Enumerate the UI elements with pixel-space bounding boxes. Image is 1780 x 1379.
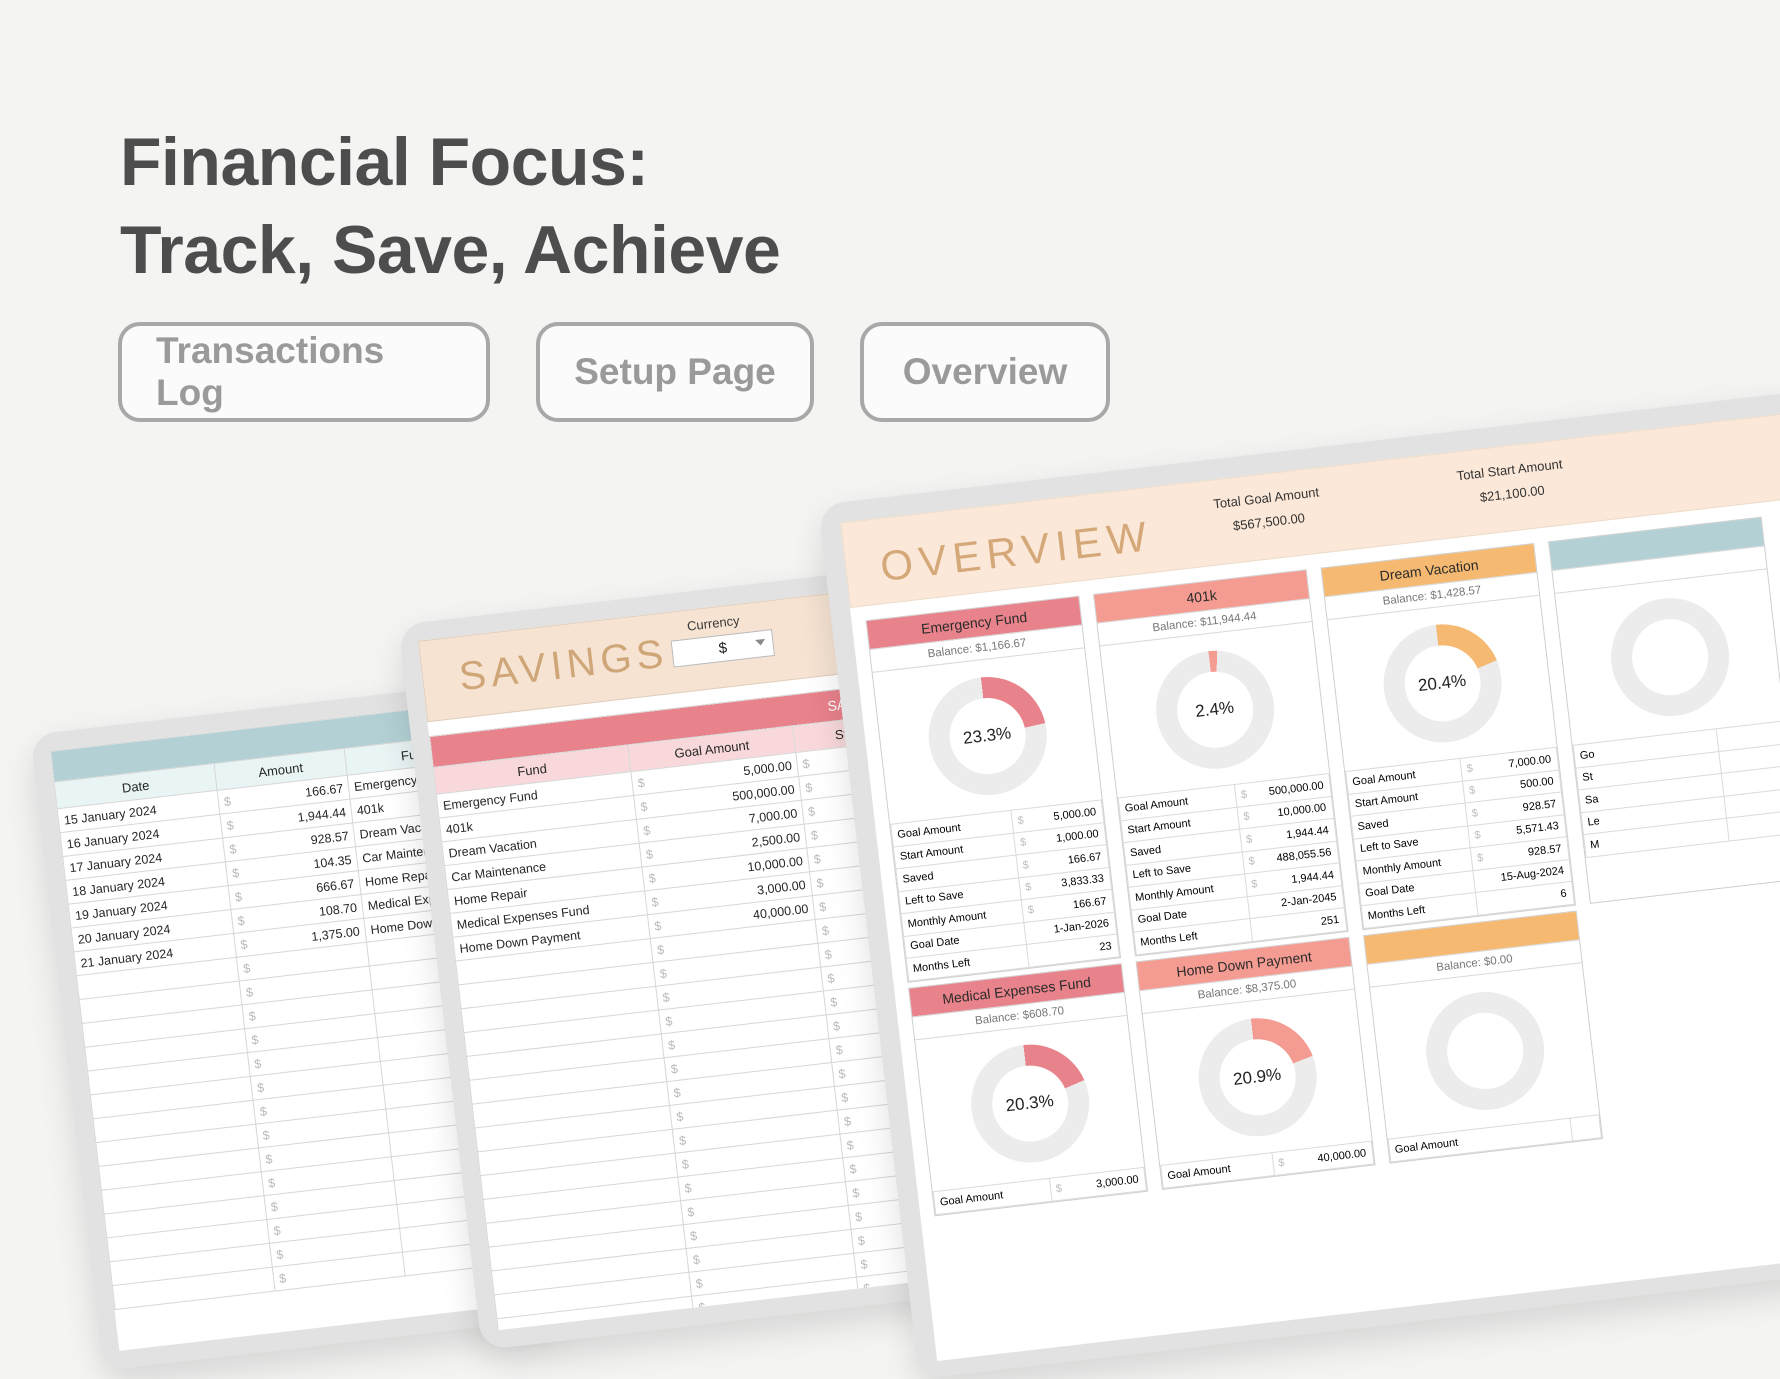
donut-chart: 23.3% (873, 648, 1102, 823)
total-start-value: $21,100.00 (1417, 475, 1607, 512)
donut-chart (1555, 569, 1780, 744)
donut-chart: 20.3% (915, 1016, 1144, 1191)
detail-value (1570, 1115, 1602, 1141)
overview-card[interactable]: 401kBalance: $11,944.442.4%Goal Amount$5… (1093, 569, 1348, 956)
page-title: Financial Focus: Track, Save, Achieve (120, 118, 1220, 295)
page-title-line-2: Track, Save, Achieve (120, 206, 1220, 294)
donut-percent: 23.3% (922, 671, 1053, 802)
overview-card[interactable]: Dream VacationBalance: $1,428.5720.4%Goa… (1321, 543, 1576, 930)
donut-percent: 20.4% (1377, 618, 1508, 749)
total-start-amount: Total Start Amount $21,100.00 (1414, 451, 1607, 512)
button-transactions-log[interactable]: Transactions Log (118, 322, 490, 422)
donut-percent (1604, 592, 1735, 723)
total-goal-value: $567,500.00 (1174, 503, 1364, 540)
page-title-line-1: Financial Focus: (120, 124, 649, 200)
overview-card[interactable]: Medical Expenses FundBalance: $608.7020.… (908, 963, 1148, 1216)
button-overview[interactable]: Overview (860, 322, 1110, 422)
overview-card[interactable]: Balance: $0.00Goal Amount (1363, 910, 1603, 1163)
currency-label: Currency (686, 613, 740, 634)
total-goal-amount: Total Goal Amount $567,500.00 (1171, 480, 1364, 541)
donut-chart: 2.4% (1100, 622, 1329, 797)
overview-card[interactable]: Emergency FundBalance: $1,166.6723.3%Goa… (866, 596, 1121, 983)
tablet-overview: OVERVIEW Total Goal Amount $567,500.00 T… (818, 391, 1780, 1379)
chevron-down-icon (755, 639, 766, 646)
donut-percent: 20.9% (1192, 1012, 1323, 1143)
overview-card[interactable]: GoStSaLeM (1548, 517, 1780, 904)
donut-chart (1370, 963, 1599, 1138)
currency-select[interactable]: $ (671, 629, 775, 668)
button-setup-page[interactable]: Setup Page (536, 322, 814, 422)
overview-title: OVERVIEW (878, 512, 1155, 591)
donut-percent (1419, 986, 1550, 1117)
card-details-table: GoStSaLeM (1573, 720, 1780, 857)
nav-button-row: Transactions Log Setup Page Overview (118, 322, 1110, 422)
card-details-table: Goal Amount$5,000.00Start Amount$1,000.0… (890, 799, 1120, 981)
donut-percent: 2.4% (1149, 644, 1280, 775)
donut-chart: 20.9% (1143, 990, 1372, 1165)
overview-card[interactable]: Home Down PaymentBalance: $8,375.0020.9%… (1136, 937, 1376, 1190)
hero-heading: Financial Focus: Track, Save, Achieve (120, 118, 1220, 295)
card-details-table: Goal Amount$500,000.00Start Amount$10,00… (1118, 773, 1348, 955)
donut-chart: 20.4% (1328, 596, 1557, 771)
currency-value: $ (718, 639, 728, 657)
screen-overview: OVERVIEW Total Goal Amount $567,500.00 T… (840, 413, 1780, 1361)
total-goal-label: Total Goal Amount (1213, 484, 1320, 511)
card-details-table: Goal Amount$7,000.00Start Amount$500.00S… (1345, 747, 1575, 929)
savings-title: SAVINGS (457, 631, 671, 700)
total-start-label: Total Start Amount (1456, 456, 1563, 483)
donut-percent: 20.3% (964, 1038, 1095, 1169)
